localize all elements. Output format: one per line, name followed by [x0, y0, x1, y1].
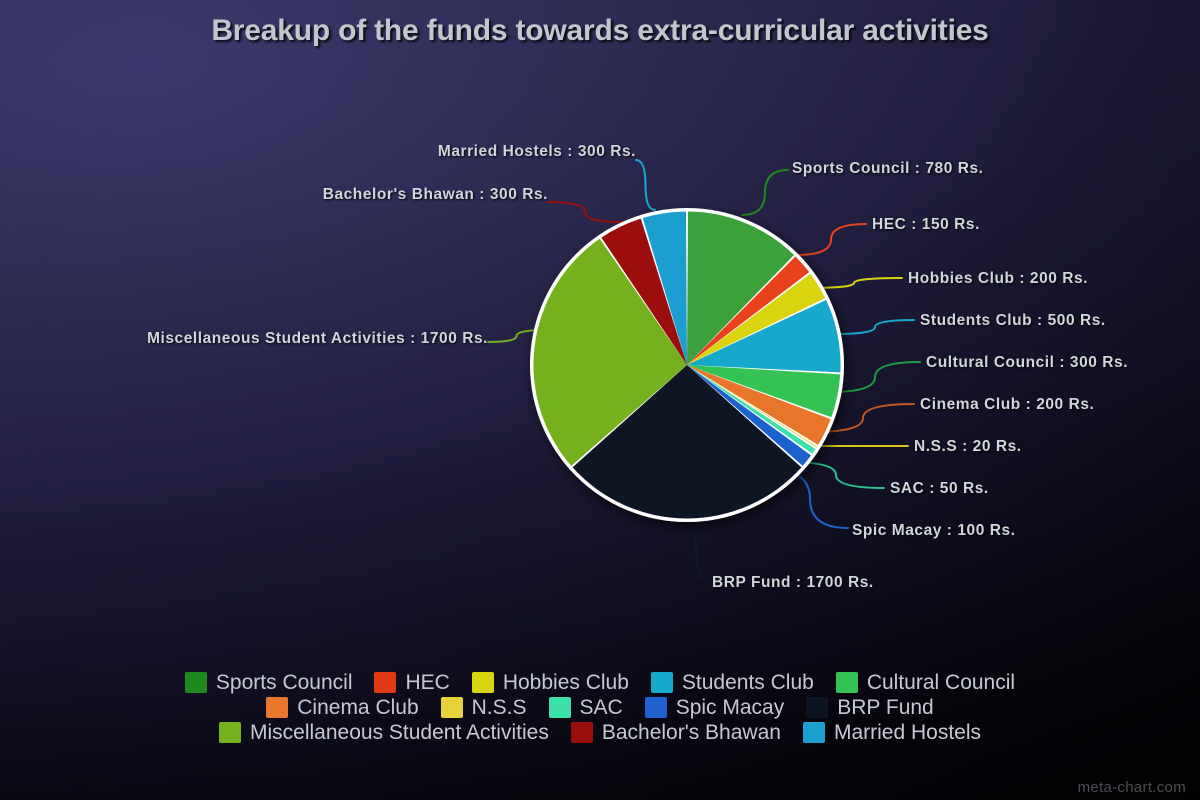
slice-label-students-club: Students Club : 500 Rs. — [920, 312, 1106, 330]
legend-swatch-icon — [549, 697, 571, 718]
slice-label-hobbies-club: Hobbies Club : 200 Rs. — [908, 270, 1088, 288]
legend-item-sports-council[interactable]: Sports Council — [185, 672, 353, 693]
watermark: meta-chart.com — [1078, 779, 1186, 796]
legend-swatch-icon — [374, 672, 396, 693]
leader-line-students-club — [836, 320, 914, 334]
legend-swatch-icon — [441, 697, 463, 718]
legend-swatch-icon — [266, 697, 288, 718]
legend-label: Students Club — [682, 672, 814, 693]
slice-label-nss: N.S.S : 20 Rs. — [914, 438, 1022, 456]
legend-label: Cultural Council — [867, 672, 1015, 693]
legend-item-hobbies-club[interactable]: Hobbies Club — [472, 672, 629, 693]
legend-swatch-icon — [185, 672, 207, 693]
legend-label: Bachelor's Bhawan — [602, 722, 781, 743]
slice-label-hec: HEC : 150 Rs. — [872, 216, 980, 234]
legend-swatch-icon — [836, 672, 858, 693]
legend-item-students-club[interactable]: Students Club — [651, 672, 814, 693]
legend-swatch-icon — [806, 697, 828, 718]
legend-label: BRP Fund — [837, 697, 934, 718]
leader-line-hec — [796, 224, 866, 255]
legend-item-spic-macay[interactable]: Spic Macay — [645, 697, 785, 718]
legend-item-miscellaneous-student-activities[interactable]: Miscellaneous Student Activities — [219, 722, 549, 743]
leader-line-brp-fund — [686, 520, 706, 578]
chart-canvas: Breakup of the funds towards extra-curri… — [0, 0, 1200, 800]
slice-label-married-hostels: Married Hostels : 300 Rs. — [0, 143, 636, 161]
legend-item-sac[interactable]: SAC — [549, 697, 623, 718]
legend-swatch-icon — [219, 722, 241, 743]
legend-row: Cinema ClubN.S.SSACSpic MacayBRP Fund — [266, 697, 933, 718]
chart-title: Breakup of the funds towards extra-curri… — [0, 14, 1200, 48]
legend-item-cinema-club[interactable]: Cinema Club — [266, 697, 418, 718]
legend-swatch-icon — [571, 722, 593, 743]
leader-line-bachelors-bhawan — [548, 202, 622, 222]
legend-row: Miscellaneous Student ActivitiesBachelor… — [219, 722, 981, 743]
slice-label-sports-council: Sports Council : 780 Rs. — [792, 160, 984, 178]
slice-label-bachelors-bhawan: Bachelor's Bhawan : 300 Rs. — [0, 186, 548, 204]
slice-label-brp-fund: BRP Fund : 1700 Rs. — [712, 574, 874, 592]
legend-item-married-hostels[interactable]: Married Hostels — [803, 722, 981, 743]
leader-line-sports-council — [742, 170, 788, 215]
slice-label-spic-macay: Spic Macay : 100 Rs. — [852, 522, 1016, 540]
legend-label: Spic Macay — [676, 697, 785, 718]
legend-label: N.S.S — [472, 697, 527, 718]
legend-item-brp-fund[interactable]: BRP Fund — [806, 697, 934, 718]
pie-slices: Sports Council : 780 Rs.HEC : 150 Rs.Hob… — [530, 208, 844, 522]
slice-label-cultural-council: Cultural Council : 300 Rs. — [926, 354, 1128, 372]
legend-item-hec[interactable]: HEC — [374, 672, 449, 693]
legend-label: Hobbies Club — [503, 672, 629, 693]
legend-label: Sports Council — [216, 672, 353, 693]
legend-item-n-s-s[interactable]: N.S.S — [441, 697, 527, 718]
legend-swatch-icon — [803, 722, 825, 743]
slice-label-cinema-club: Cinema Club : 200 Rs. — [920, 396, 1094, 414]
legend-swatch-icon — [645, 697, 667, 718]
legend-swatch-icon — [651, 672, 673, 693]
legend-item-cultural-council[interactable]: Cultural Council — [836, 672, 1015, 693]
legend-item-bachelor-s-bhawan[interactable]: Bachelor's Bhawan — [571, 722, 781, 743]
legend-row: Sports CouncilHECHobbies ClubStudents Cl… — [185, 672, 1015, 693]
legend-label: Married Hostels — [834, 722, 981, 743]
legend-label: SAC — [580, 697, 623, 718]
legend-label: HEC — [405, 672, 449, 693]
chart-legend: Sports CouncilHECHobbies ClubStudents Cl… — [0, 672, 1200, 743]
slice-label-sac: SAC : 50 Rs. — [890, 480, 989, 498]
legend-label: Miscellaneous Student Activities — [250, 722, 549, 743]
slice-label-misc-student: Miscellaneous Student Activities : 1700 … — [0, 330, 488, 348]
legend-label: Cinema Club — [297, 697, 418, 718]
legend-swatch-icon — [472, 672, 494, 693]
leader-line-married-hostels — [636, 160, 655, 210]
